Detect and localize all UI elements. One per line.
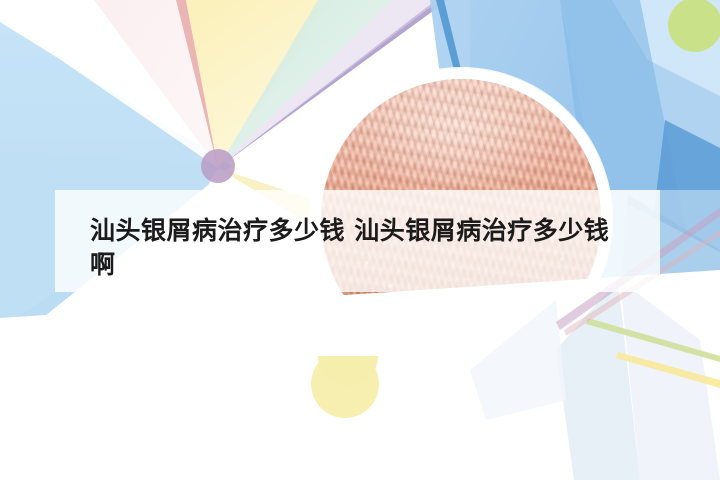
shape-yellow-halfdisc-2 [318, 356, 378, 386]
ray-pale-yellow [186, 0, 330, 168]
poster-canvas: 汕头银屑病治疗多少钱 汕头银屑病治疗多少钱啊 [0, 0, 720, 480]
green-circle [668, 0, 720, 52]
line-green-thin [586, 318, 720, 362]
shape-chevron-pale-b [620, 280, 720, 480]
line-yellow-thin [616, 352, 720, 388]
mauve-dot [201, 149, 235, 183]
page-title: 汕头银屑病治疗多少钱 汕头银屑病治疗多少钱啊 [90, 214, 630, 282]
shape-sky-pale-topright [612, 0, 720, 96]
ray-white-upper-left [0, 0, 218, 168]
ray-rose-upper-left [94, 0, 218, 168]
shape-left-blue-field [0, 22, 232, 352]
shape-yellow-halfdisc [311, 350, 379, 418]
ray-rose-stripe [176, 0, 218, 168]
